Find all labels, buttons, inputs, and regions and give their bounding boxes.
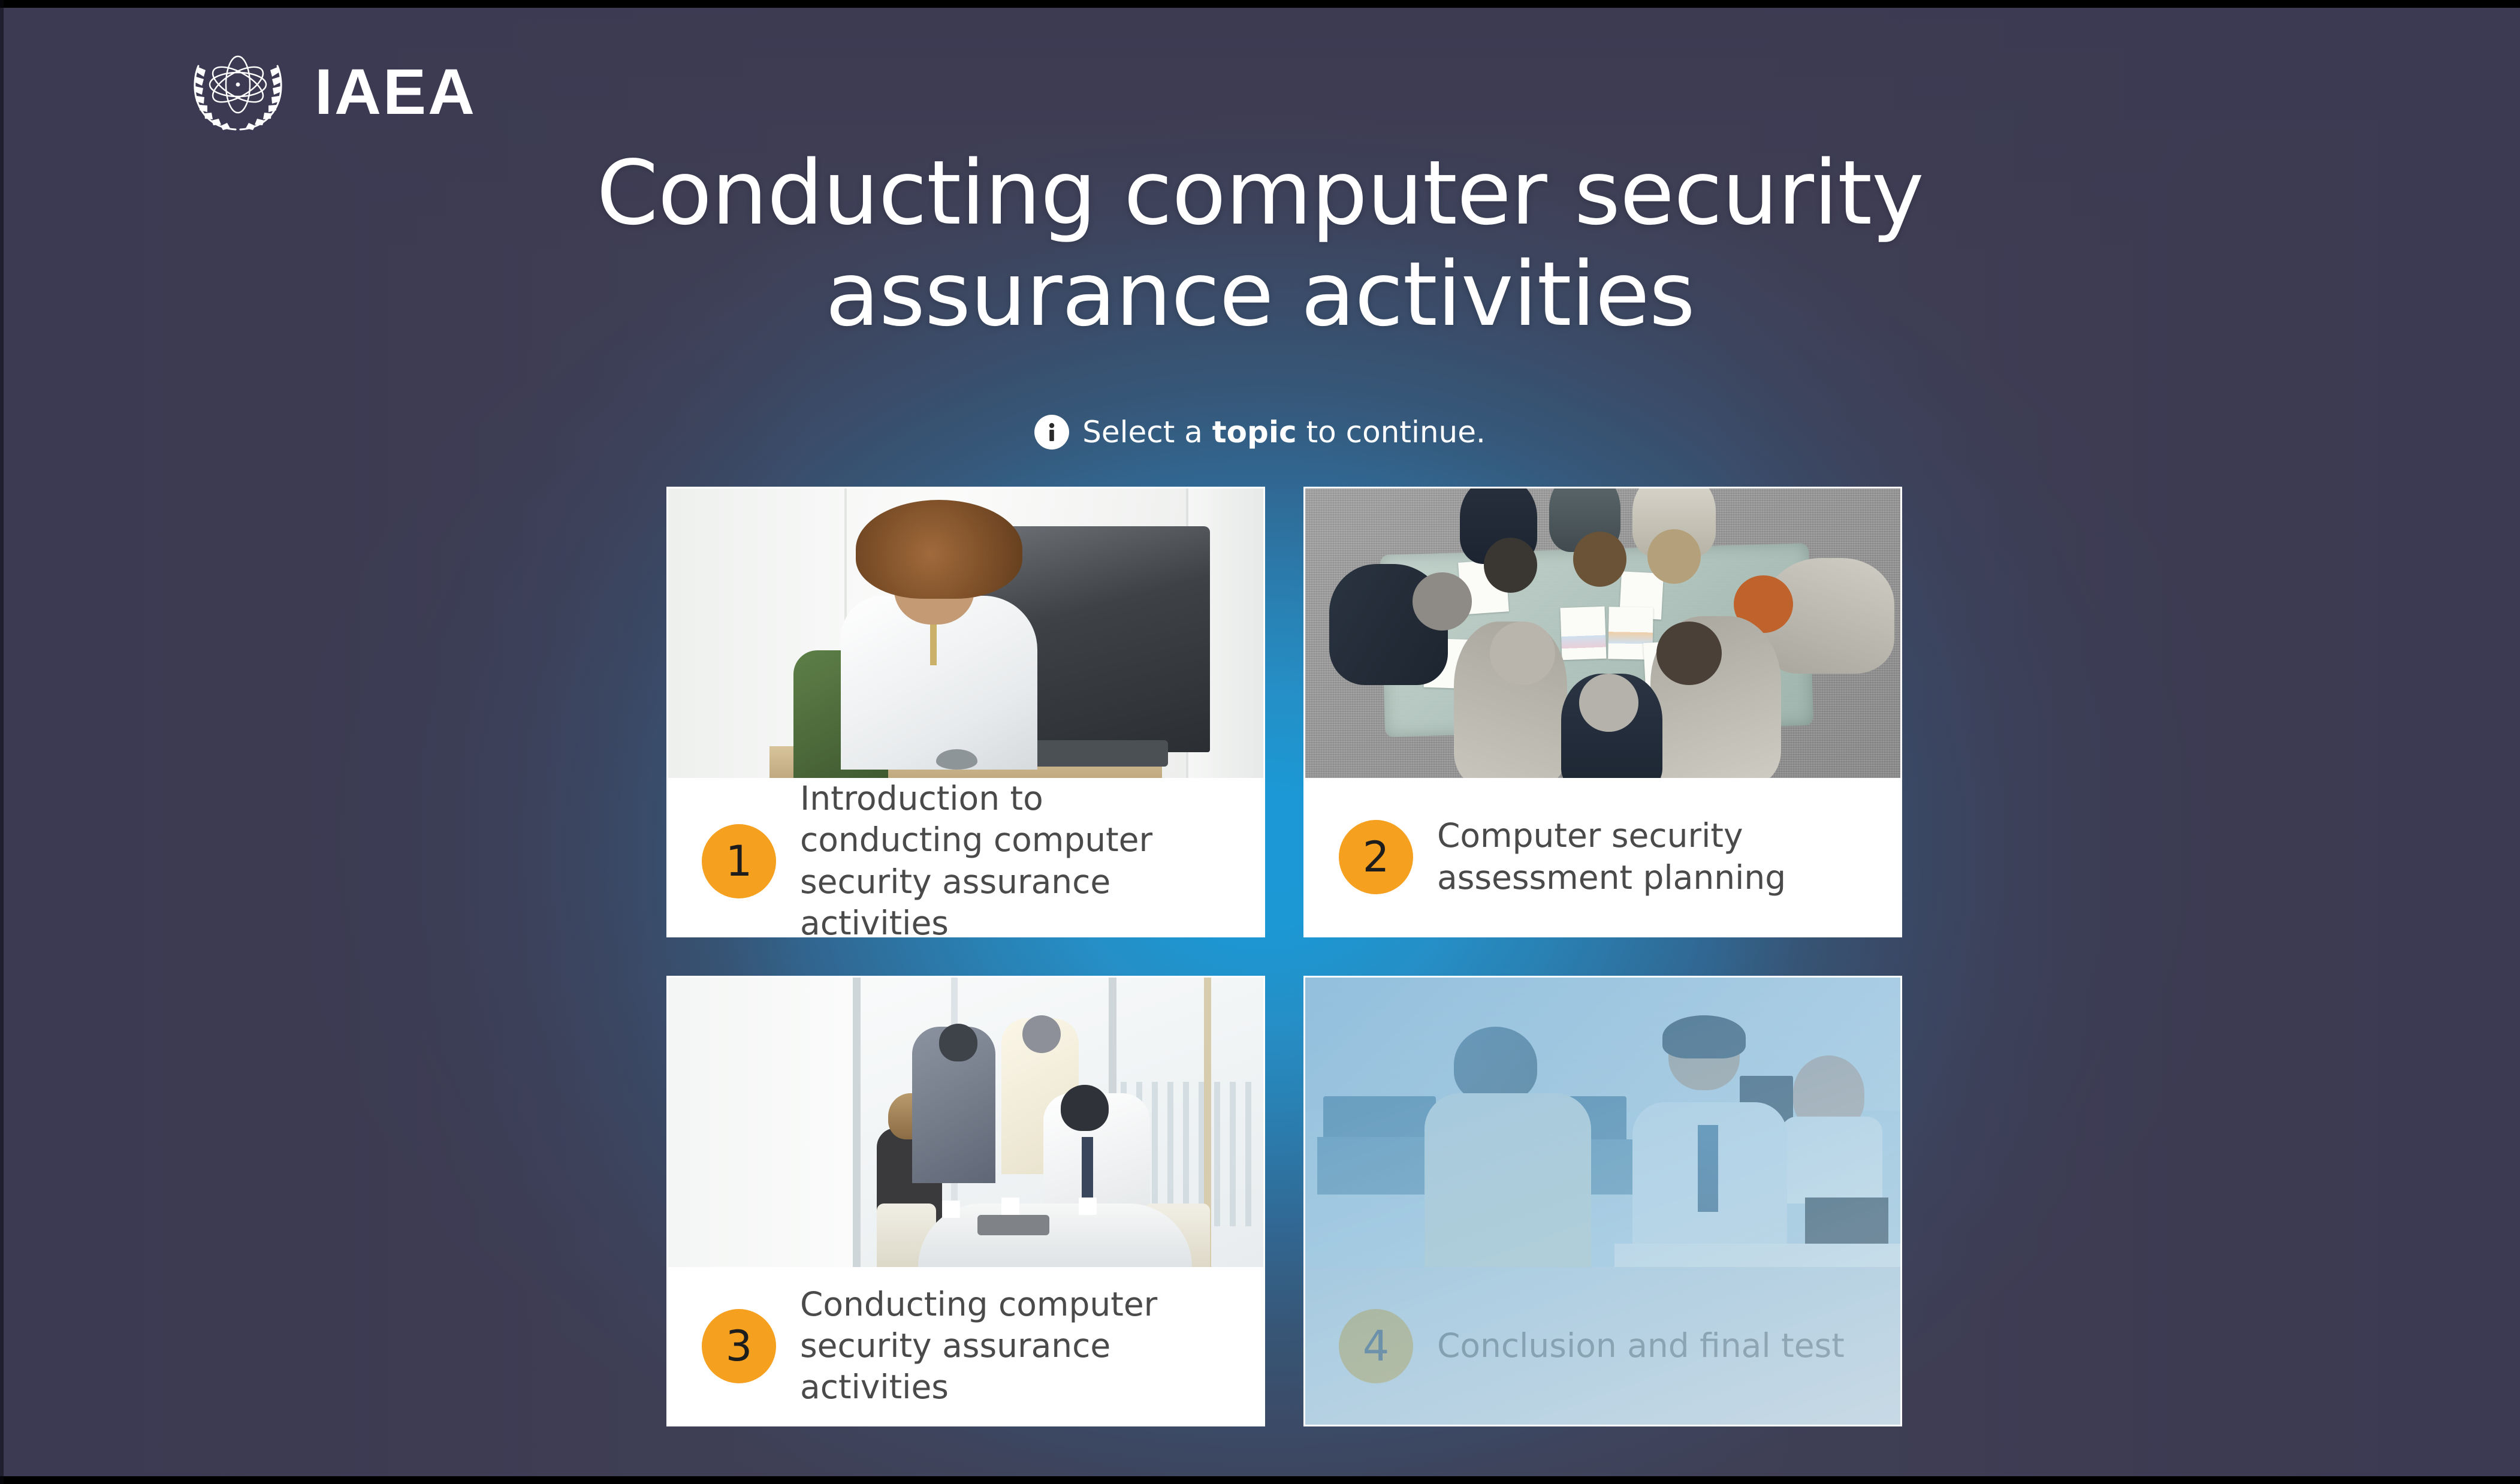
iaea-logo: IAEA	[177, 47, 476, 137]
topic-card-4-image	[1305, 978, 1900, 1267]
instruction-text: Select a topic to continue.	[1082, 417, 1486, 447]
topic-card-3-image	[668, 978, 1263, 1267]
topic-card-3-body: 3 Conducting computer security assurance…	[668, 1267, 1263, 1425]
page-title-line-1: Conducting computer security	[0, 143, 2520, 244]
topic-card-2-label: Computer security assessment planning	[1437, 815, 1869, 898]
topic-card-2-number: 2	[1339, 820, 1413, 894]
topic-card-3[interactable]: 3 Conducting computer security assurance…	[666, 976, 1265, 1426]
topic-card-4-number: 4	[1339, 1309, 1413, 1383]
instruction-row: Select a topic to continue.	[0, 415, 2520, 450]
instruction-emphasis: topic	[1212, 415, 1297, 450]
iaea-logo-text: IAEA	[315, 59, 476, 124]
topic-card-grid: 1 Introduction to conducting computer se…	[666, 487, 1902, 1429]
topic-card-2-body: 2 Computer security assessment planning	[1305, 778, 1900, 936]
topic-card-1-body: 1 Introduction to conducting computer se…	[668, 778, 1263, 937]
letterbox-strip-bottom	[150, 1478, 2439, 1484]
topic-card-3-number: 3	[702, 1309, 776, 1383]
topic-card-1-label: Introduction to conducting computer secu…	[800, 778, 1232, 937]
letterbox-strip-top-left	[0, 0, 150, 8]
page-title: Conducting computer security assurance a…	[0, 143, 2520, 345]
info-icon	[1034, 415, 1069, 450]
topic-card-4[interactable]: 4 Conclusion and final test	[1303, 976, 1902, 1426]
topic-card-4-body: 4 Conclusion and final test	[1305, 1267, 1900, 1425]
slide-stage: IAEA Conducting computer security assura…	[0, 0, 2520, 1484]
topic-card-2-image	[1305, 488, 1900, 778]
topic-card-3-label: Conducting computer security assurance a…	[800, 1284, 1232, 1408]
topic-card-4-label: Conclusion and final test	[1437, 1325, 1845, 1367]
topic-card-1[interactable]: 1 Introduction to conducting computer se…	[666, 487, 1265, 937]
page-title-line-2: assurance activities	[0, 244, 2520, 345]
letterbox-strip-top-right	[2436, 0, 2520, 8]
topic-card-1-image	[668, 488, 1263, 778]
topic-card-1-number: 1	[702, 824, 776, 898]
instruction-suffix: to continue.	[1297, 415, 1486, 450]
topic-card-2[interactable]: 2 Computer security assessment planning	[1303, 487, 1902, 937]
iaea-atom-laurel-logo-icon	[177, 47, 299, 137]
instruction-prefix: Select a	[1082, 415, 1212, 450]
